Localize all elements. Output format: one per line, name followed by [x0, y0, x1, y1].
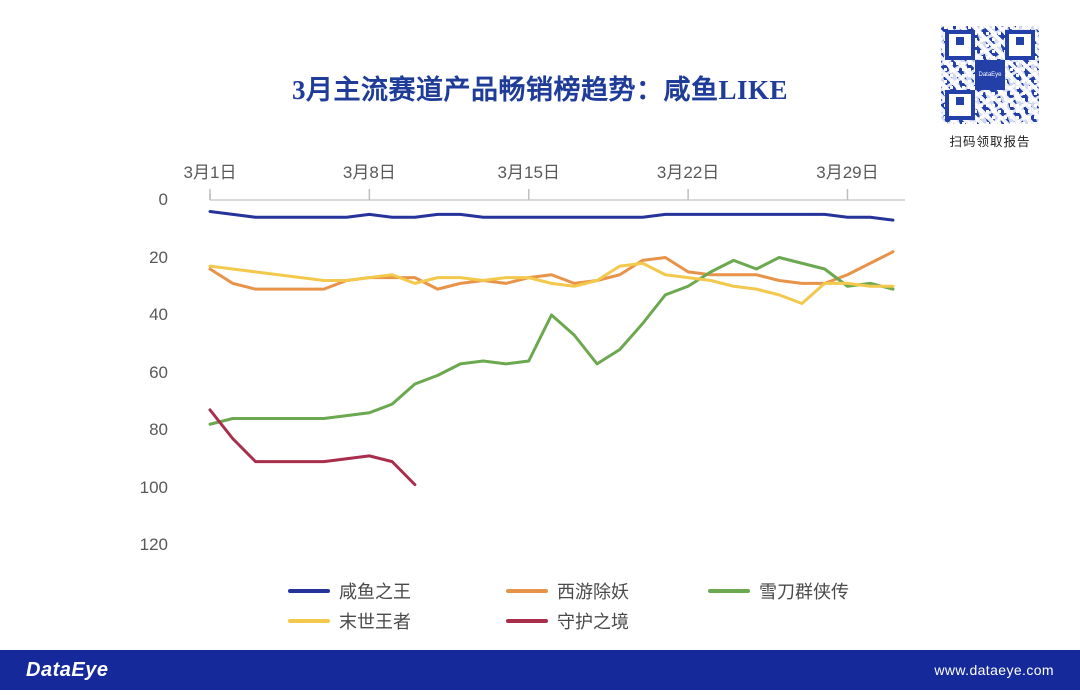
legend-label: 守护之境 — [557, 608, 629, 634]
legend-swatch-icon — [506, 589, 548, 593]
legend-label: 西游除妖 — [557, 578, 629, 604]
legend-row: 末世王者守护之境 — [288, 606, 848, 636]
x-tick-label: 3月1日 — [184, 158, 237, 183]
legend-swatch-icon — [708, 589, 750, 593]
legend-row: 咸鱼之王西游除妖雪刀群侠传 — [288, 576, 848, 606]
legend-label: 雪刀群侠传 — [759, 578, 849, 604]
qr-finder-bottom-left-icon — [945, 90, 975, 120]
y-tick-label: 100 — [140, 478, 168, 498]
legend-item[interactable]: 守护之境 — [506, 608, 629, 634]
y-tick-label: 60 — [149, 363, 168, 383]
y-tick-label: 20 — [149, 248, 168, 268]
legend-swatch-icon — [506, 619, 548, 623]
qr-finder-top-right-icon — [1005, 30, 1035, 60]
qr-finder-top-left-icon — [945, 30, 975, 60]
legend-label: 咸鱼之王 — [339, 578, 411, 604]
legend-item[interactable]: 末世王者 — [288, 608, 411, 634]
y-tick-label: 40 — [149, 305, 168, 325]
series-line — [210, 212, 893, 221]
series-line — [210, 410, 415, 485]
legend-item[interactable]: 雪刀群侠传 — [708, 578, 849, 604]
footer-logo: DataEye — [26, 659, 108, 682]
x-tick-label: 3月29日 — [816, 158, 878, 183]
legend-item[interactable]: 咸鱼之王 — [288, 578, 411, 604]
legend-swatch-icon — [288, 589, 330, 593]
y-tick-label: 80 — [149, 420, 168, 440]
legend-swatch-icon — [288, 619, 330, 623]
x-tick-label: 3月15日 — [498, 158, 560, 183]
legend-item[interactable]: 西游除妖 — [506, 578, 629, 604]
y-tick-label: 0 — [159, 190, 168, 210]
footer-bar: DataEye www.dataeye.com — [0, 650, 1080, 690]
x-tick-label: 3月8日 — [343, 158, 396, 183]
legend-label: 末世王者 — [339, 608, 411, 634]
y-tick-label: 120 — [140, 535, 168, 555]
footer-url: www.dataeye.com — [934, 662, 1054, 678]
qr-center-logo: DataEye — [975, 60, 1005, 90]
chart-legend: 咸鱼之王西游除妖雪刀群侠传末世王者守护之境 — [288, 576, 848, 636]
x-tick-label: 3月22日 — [657, 158, 719, 183]
